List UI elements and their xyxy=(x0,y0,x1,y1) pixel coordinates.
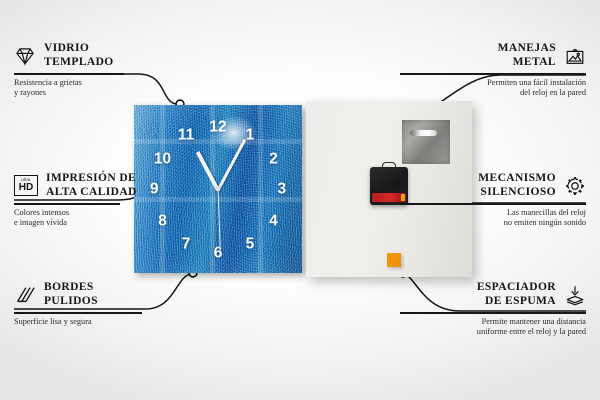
feature-title-2: ALTA CALIDAD xyxy=(46,186,137,200)
feature-title-2: SILENCIOSO xyxy=(478,186,556,200)
clock-numeral: 7 xyxy=(182,237,191,253)
feature-divider xyxy=(400,203,586,204)
feature-desc: Las manecillas del reloj xyxy=(400,208,586,219)
feature-title-2: TEMPLADO xyxy=(44,56,114,70)
foam-spacer-arrow-icon xyxy=(564,284,586,306)
foam-spacer-pad xyxy=(387,253,401,267)
feature-desc-2: del reloj en la pared xyxy=(400,88,586,99)
mechanism-shaft xyxy=(382,162,396,168)
metal-hanger-plate xyxy=(402,120,450,164)
clock-numeral: 6 xyxy=(214,245,223,261)
feature-title: MANEJAS xyxy=(498,42,556,56)
feature-desc: Resistencia a grietas xyxy=(14,78,200,89)
feature-desc: Permite mantener una distancia xyxy=(400,317,586,328)
clock-numeral: 3 xyxy=(278,181,287,197)
feature-desc: Superficie lisa y segura xyxy=(14,317,200,328)
feature-title-2: METAL xyxy=(498,56,556,70)
feature-divider xyxy=(14,73,124,74)
clock-numeral: 10 xyxy=(154,151,171,167)
feature-desc-2: uniforme entre el reloj y la pared xyxy=(400,327,586,338)
clock-numeral: 5 xyxy=(246,237,255,253)
feature-impresion-alta-calidad: ultra HD IMPRESIÓN DE ALTA CALIDAD Color… xyxy=(14,172,200,229)
feature-desc-2: y rayones xyxy=(14,88,200,99)
feature-desc-2: no emiten ningún sonido xyxy=(400,218,586,229)
feature-manejas-metal: MANEJAS METAL Permiten una fácil instala… xyxy=(400,42,586,99)
feature-title: MECANISMO xyxy=(478,172,556,186)
feature-title: VIDRIO xyxy=(44,42,114,56)
feature-divider xyxy=(400,312,586,313)
clock-numeral: 4 xyxy=(269,213,278,229)
ultra-hd-icon-main-label: HD xyxy=(19,183,33,193)
feature-mecanismo-silencioso: MECANISMO SILENCIOSO Las manecillas del … xyxy=(400,172,586,229)
clock-numeral: 1 xyxy=(246,127,255,143)
feature-vidrio-templado: VIDRIO TEMPLADO Resistencia a grietas y … xyxy=(14,42,200,99)
clock-center-cap xyxy=(216,187,221,192)
feature-divider xyxy=(14,312,142,313)
feature-bordes-pulidos: BORDES PULIDOS Superficie lisa y segura xyxy=(14,281,200,327)
feature-divider xyxy=(400,73,586,74)
feature-desc: Colores intensos xyxy=(14,208,200,219)
clock-numeral: 11 xyxy=(178,127,194,143)
feature-divider xyxy=(14,203,120,204)
feature-title: ESPACIADOR xyxy=(477,281,556,295)
feature-desc: Permiten una fácil instalación xyxy=(400,78,586,89)
polished-edges-icon xyxy=(14,284,36,306)
feature-espaciador-espuma: ESPACIADOR DE ESPUMA Permite mantener un… xyxy=(400,281,586,338)
clock-numeral: 2 xyxy=(269,151,278,167)
hanger-slot xyxy=(410,130,437,136)
ultra-hd-icon: ultra HD xyxy=(14,175,38,196)
clock-numeral: 12 xyxy=(209,119,226,135)
feature-desc-2: e imagen vívida xyxy=(14,218,200,229)
feature-title-2: PULIDOS xyxy=(44,295,98,309)
infographic-canvas: 12 1 2 3 4 5 6 7 8 9 10 11 xyxy=(0,0,600,400)
diamond-icon xyxy=(14,45,36,67)
gear-icon xyxy=(564,175,586,197)
feature-title-2: DE ESPUMA xyxy=(477,295,556,309)
picture-frame-hook-icon xyxy=(564,45,586,67)
feature-title: BORDES xyxy=(44,281,98,295)
feature-title: IMPRESIÓN DE xyxy=(46,172,137,186)
